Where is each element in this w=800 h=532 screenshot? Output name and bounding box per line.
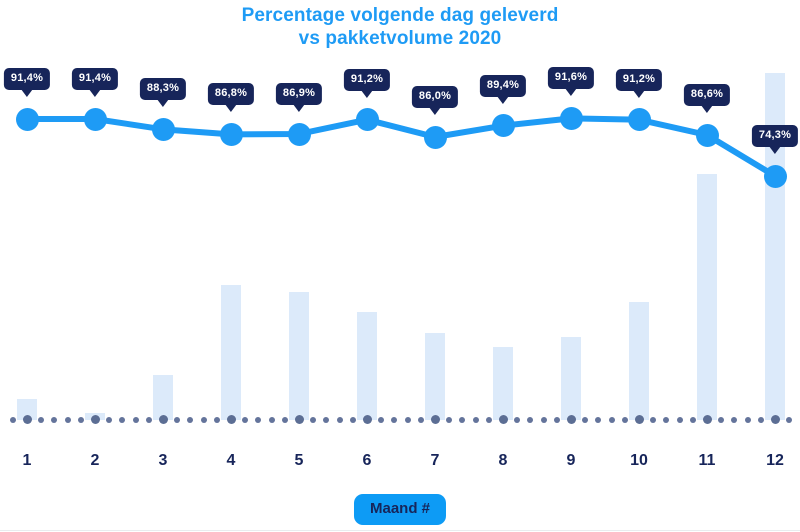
bottom-divider xyxy=(0,530,800,531)
x-axis-tick-label: 10 xyxy=(630,452,648,470)
data-label-tooltip: 74,3% xyxy=(752,125,798,147)
x-axis-tick-label: 3 xyxy=(159,452,168,470)
x-axis-tick-label: 8 xyxy=(499,452,508,470)
chart-container: Percentage volgende dag geleverd vs pakk… xyxy=(0,0,800,532)
x-axis-title-pill[interactable]: Maand # xyxy=(354,494,446,525)
x-axis-tick-label: 6 xyxy=(363,452,372,470)
data-label-tooltip: 91,6% xyxy=(548,67,594,89)
x-axis-tick-label: 7 xyxy=(431,452,440,470)
data-label-tooltip: 88,3% xyxy=(140,78,186,100)
x-axis-tick-label: 4 xyxy=(227,452,236,470)
data-label-tooltip: 89,4% xyxy=(480,75,526,97)
x-axis-tick-label: 12 xyxy=(766,452,784,470)
data-label-tooltip: 86,9% xyxy=(276,83,322,105)
data-label-tooltip: 86,8% xyxy=(208,83,254,105)
x-axis-tick-label: 2 xyxy=(91,452,100,470)
data-label-tooltip: 91,4% xyxy=(4,68,50,90)
data-label-tooltip: 91,2% xyxy=(344,69,390,91)
data-label-layer: 91,4%91,4%88,3%86,8%86,9%91,2%86,0%89,4%… xyxy=(0,0,800,440)
x-axis-tick-label: 11 xyxy=(699,452,716,470)
x-axis-labels: 123456789101112 xyxy=(0,452,800,478)
x-axis-tick-label: 9 xyxy=(567,452,576,470)
plot-area: 91,4%91,4%88,3%86,8%86,9%91,2%86,0%89,4%… xyxy=(0,0,800,440)
x-axis-tick-label: 5 xyxy=(295,452,304,470)
data-label-tooltip: 91,4% xyxy=(72,68,118,90)
data-label-tooltip: 91,2% xyxy=(616,69,662,91)
data-label-tooltip: 86,6% xyxy=(684,84,730,106)
data-label-tooltip: 86,0% xyxy=(412,86,458,108)
x-axis-tick-label: 1 xyxy=(23,452,32,470)
